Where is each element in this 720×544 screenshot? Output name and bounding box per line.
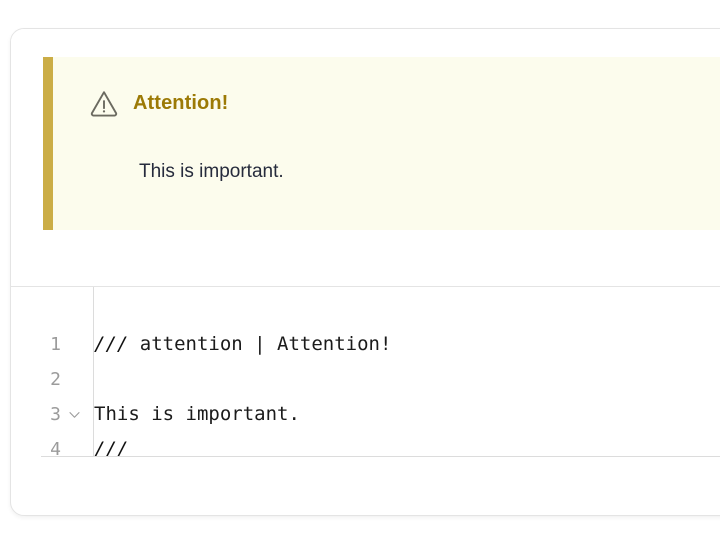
line-gutter: 3	[11, 406, 83, 424]
line-gutter: 2	[11, 371, 83, 389]
line-number: 2	[50, 371, 61, 389]
code-line-text[interactable]: /// attention | Attention!	[94, 335, 391, 354]
chevron-down-icon[interactable]	[65, 411, 83, 419]
attention-admonition: Attention! This is important.	[43, 57, 720, 230]
code-line[interactable]: 4///	[11, 432, 720, 467]
admonition-title: Attention!	[133, 92, 228, 115]
code-bottom-border	[41, 456, 720, 457]
page-root: Attention! This is important. 1/// atten…	[0, 0, 720, 544]
code-line[interactable]: 3This is important.	[11, 397, 720, 432]
line-number: 1	[50, 336, 61, 354]
line-gutter: 1	[11, 336, 83, 354]
code-editor[interactable]: 1/// attention | Attention!23This is imp…	[11, 287, 720, 457]
line-number: 3	[50, 406, 61, 424]
warning-triangle-icon	[89, 89, 119, 117]
code-token-text: This is important.	[94, 403, 300, 425]
code-token-text: attention | Attention!	[140, 333, 392, 355]
code-token-delimiter: ///	[94, 333, 140, 355]
preview-card: Attention! This is important. 1/// atten…	[10, 28, 720, 516]
code-line[interactable]: 1/// attention | Attention!	[11, 327, 720, 362]
admonition-title-row: Attention!	[89, 89, 228, 117]
admonition-preview-region: Attention! This is important.	[11, 29, 720, 258]
admonition-body-text: This is important.	[139, 161, 284, 183]
code-line[interactable]: 2	[11, 362, 720, 397]
code-line-text[interactable]: This is important.	[94, 405, 300, 424]
code-line-list: 1/// attention | Attention!23This is imp…	[11, 327, 720, 467]
